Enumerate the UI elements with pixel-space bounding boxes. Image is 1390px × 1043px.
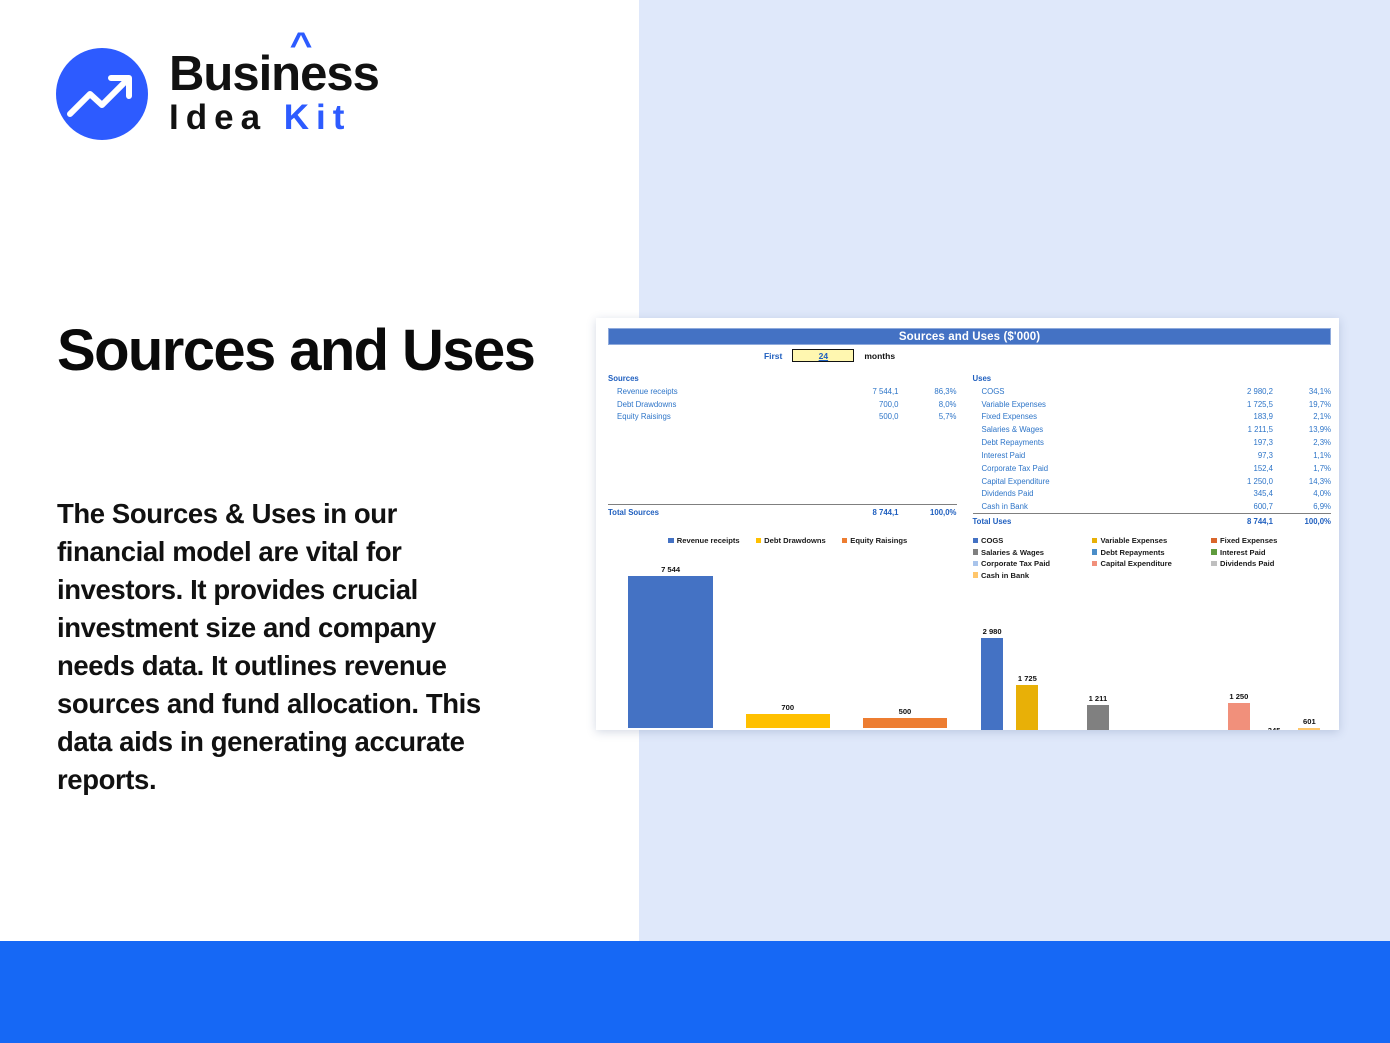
row-label: Interest Paid <box>973 449 1200 462</box>
row-pct: 19,7% <box>1273 398 1331 411</box>
bar[interactable] <box>1016 685 1038 730</box>
bar[interactable] <box>1228 703 1250 730</box>
table-row: Corporate Tax Paid 152,4 1,7% <box>973 462 1332 475</box>
legend-item: Corporate Tax Paid <box>973 559 1092 568</box>
legend-item: COGS <box>973 536 1092 545</box>
bar[interactable] <box>1087 705 1109 730</box>
legend-label: Fixed Expenses <box>1220 536 1277 545</box>
sources-total-row: Total Sources 8 744,1 100,0% <box>608 504 957 518</box>
bar-slot: 700 <box>729 550 846 728</box>
row-value: 500,0 <box>825 411 899 424</box>
table-row: Fixed Expenses 183,9 2,1% <box>973 411 1332 424</box>
row-value: 7 544,1 <box>825 385 899 398</box>
row-pct: 86,3% <box>899 385 957 398</box>
row-pct: 6,9% <box>1273 500 1331 513</box>
legend-swatch-icon <box>973 538 979 544</box>
uses-chart: COGSVariable ExpensesFixed ExpensesSalar… <box>970 536 1332 730</box>
uses-heading: Uses <box>973 372 1200 385</box>
row-pct: 5,7% <box>899 411 957 424</box>
uses-total-row: Total Uses 8 744,1 100,0% <box>973 514 1332 528</box>
row-label: Salaries & Wages <box>973 423 1200 436</box>
sheet-title-bar: Sources and Uses ($'000) <box>608 328 1331 345</box>
row-value: 2 980,2 <box>1199 385 1273 398</box>
row-label: Variable Expenses <box>973 398 1200 411</box>
legend-swatch-icon <box>1211 538 1217 544</box>
legend-label: Salaries & Wages <box>981 548 1044 557</box>
row-label: Cash in Bank <box>973 500 1200 513</box>
table-row: Debt Drawdowns 700,0 8,0% <box>608 398 957 411</box>
row-value: 197,3 <box>1199 436 1273 449</box>
tables-container: Sources Revenue receipts 7 544,1 86,3% D… <box>608 372 1331 528</box>
table-spacer <box>608 423 957 504</box>
legend-item: Dividends Paid <box>1211 559 1330 568</box>
sources-table: Sources Revenue receipts 7 544,1 86,3% D… <box>608 372 970 528</box>
bar-slot: 1 211 <box>1080 587 1115 730</box>
legend-swatch-icon <box>756 538 762 544</box>
brand-logo: Business ^ Idea Kit <box>56 48 379 140</box>
legend-swatch-icon <box>973 549 979 555</box>
legend-item: Fixed Expenses <box>1211 536 1330 545</box>
legend-swatch-icon <box>1092 538 1098 544</box>
legend-item: Revenue receipts <box>668 536 739 545</box>
row-label: Debt Repayments <box>973 436 1200 449</box>
page-title: Sources and Uses <box>57 317 577 385</box>
row-pct: 8,0% <box>899 398 957 411</box>
legend-item: Salaries & Wages <box>973 548 1092 557</box>
legend-item: Interest Paid <box>1211 548 1330 557</box>
uses-plot-area: 2 9801 7251841 211197971521 250345601 <box>973 587 1332 730</box>
legend-label: Interest Paid <box>1220 548 1266 557</box>
total-pct: 100,0% <box>899 504 957 518</box>
bar-slot: 152 <box>1186 587 1221 730</box>
row-value: 183,9 <box>1199 411 1273 424</box>
total-label: Total Sources <box>608 504 825 518</box>
row-pct: 4,0% <box>1273 488 1331 501</box>
bar-value-label: 2 980 <box>983 627 1002 636</box>
row-pct: 14,3% <box>1273 475 1331 488</box>
row-label: Dividends Paid <box>973 488 1200 501</box>
total-value: 8 744,1 <box>825 504 899 518</box>
row-label: Revenue receipts <box>608 385 825 398</box>
left-background-panel <box>0 0 639 941</box>
legend-item: Capital Expenditure <box>1092 559 1211 568</box>
row-value: 152,4 <box>1199 462 1273 475</box>
legend-label: Debt Drawdowns <box>764 536 826 545</box>
legend-swatch-icon <box>668 538 674 544</box>
row-label: Corporate Tax Paid <box>973 462 1200 475</box>
table-row: Debt Repayments 197,3 2,3% <box>973 436 1332 449</box>
row-pct: 1,7% <box>1273 462 1331 475</box>
legend-label: Revenue receipts <box>677 536 740 545</box>
bar-value-label: 345 <box>1268 726 1281 730</box>
bar-value-label: 1 211 <box>1089 694 1108 703</box>
sources-plot-area: 7 544700500 <box>608 550 970 728</box>
table-row: Salaries & Wages 1 211,5 13,9% <box>973 423 1332 436</box>
row-value: 1 211,5 <box>1199 423 1273 436</box>
row-value: 1 250,0 <box>1199 475 1273 488</box>
legend-label: Equity Raisings <box>850 536 907 545</box>
bar[interactable] <box>981 638 1003 730</box>
row-label: COGS <box>973 385 1200 398</box>
legend-label: Cash in Bank <box>981 571 1029 580</box>
table-row: COGS 2 980,2 34,1% <box>973 385 1332 398</box>
row-label: Fixed Expenses <box>973 411 1200 424</box>
legend-label: Variable Expenses <box>1100 536 1167 545</box>
bar-slot: 500 <box>846 550 963 728</box>
row-value: 600,7 <box>1199 500 1273 513</box>
bar-value-label: 700 <box>781 703 794 712</box>
row-label: Debt Drawdowns <box>608 398 825 411</box>
legend-swatch-icon <box>973 561 979 567</box>
row-pct: 2,3% <box>1273 436 1331 449</box>
legend-swatch-icon <box>1092 561 1098 567</box>
legend-swatch-icon <box>842 538 848 544</box>
table-row: Uses <box>973 372 1332 385</box>
period-prefix-label: First <box>764 351 782 361</box>
brand-name-secondary: Idea Kit <box>169 100 379 137</box>
table-row: Variable Expenses 1 725,5 19,7% <box>973 398 1332 411</box>
bar-value-label: 1 250 <box>1229 692 1248 701</box>
bar-value-label: 1 725 <box>1018 674 1037 683</box>
total-value: 8 744,1 <box>1199 514 1273 528</box>
brand-hat-accent-icon: ^ <box>290 29 312 61</box>
brand-name-text: Business <box>169 47 379 101</box>
legend-swatch-icon <box>1211 561 1217 567</box>
legend-swatch-icon <box>973 572 979 578</box>
bar-slot: 1 250 <box>1221 587 1256 730</box>
sources-chart-legend: Revenue receiptsDebt DrawdownsEquity Rai… <box>608 536 970 545</box>
bar-slot: 2 980 <box>975 587 1010 730</box>
months-input[interactable]: 24 <box>792 349 854 362</box>
bar-slot: 97 <box>1151 587 1186 730</box>
bar-slot: 197 <box>1116 587 1151 730</box>
bar[interactable] <box>863 718 947 728</box>
legend-item: Debt Repayments <box>1092 548 1211 557</box>
row-value: 97,3 <box>1199 449 1273 462</box>
legend-label: Capital Expenditure <box>1100 559 1171 568</box>
spreadsheet-content: Sources and Uses ($'000) First 24 months… <box>608 328 1331 730</box>
bar-slot: 1 725 <box>1010 587 1045 730</box>
legend-label: Corporate Tax Paid <box>981 559 1050 568</box>
row-label: Capital Expenditure <box>973 475 1200 488</box>
row-pct: 34,1% <box>1273 385 1331 398</box>
bar[interactable] <box>628 576 712 728</box>
bar-slot: 601 <box>1292 587 1327 730</box>
bar[interactable] <box>746 714 830 728</box>
brand-name-primary: Business ^ <box>169 51 379 98</box>
legend-label: COGS <box>981 536 1003 545</box>
legend-swatch-icon <box>1211 549 1217 555</box>
period-suffix-label: months <box>864 351 895 361</box>
legend-item: Variable Expenses <box>1092 536 1211 545</box>
uses-chart-legend: COGSVariable ExpensesFixed ExpensesSalar… <box>973 536 1332 582</box>
total-pct: 100,0% <box>1273 514 1331 528</box>
row-value: 700,0 <box>825 398 899 411</box>
total-label: Total Uses <box>973 514 1200 528</box>
row-pct: 1,1% <box>1273 449 1331 462</box>
bar-value-label: 7 544 <box>661 565 680 574</box>
page-description: The Sources & Uses in our financial mode… <box>57 495 502 799</box>
bar-slot: 184 <box>1045 587 1080 730</box>
bar-value-label: 500 <box>899 707 912 716</box>
bar-slot: 345 <box>1257 587 1292 730</box>
legend-label: Debt Repayments <box>1100 548 1164 557</box>
uses-table: Uses COGS 2 980,2 34,1% Variable Expense… <box>970 372 1332 528</box>
bar[interactable] <box>1298 728 1320 730</box>
table-row: Interest Paid 97,3 1,1% <box>973 449 1332 462</box>
table-row: Sources <box>608 372 957 385</box>
row-value: 1 725,5 <box>1199 398 1273 411</box>
bottom-accent-bar <box>0 941 1390 1043</box>
charts-container: Revenue receiptsDebt DrawdownsEquity Rai… <box>608 536 1331 730</box>
period-selector-row: First 24 months <box>608 349 1331 362</box>
bar-slot: 7 544 <box>612 550 729 728</box>
sources-chart: Revenue receiptsDebt DrawdownsEquity Rai… <box>608 536 970 730</box>
brand-idea-text: Idea <box>169 98 284 137</box>
legend-swatch-icon <box>1092 549 1098 555</box>
table-row: Equity Raisings 500,0 5,7% <box>608 411 957 424</box>
sources-heading: Sources <box>608 372 825 385</box>
spreadsheet-card: Sources and Uses ($'000) First 24 months… <box>596 318 1339 730</box>
trending-up-arrow-icon <box>56 48 148 140</box>
row-label: Equity Raisings <box>608 411 825 424</box>
brand-kit-text: Kit <box>284 98 352 137</box>
bar-value-label: 601 <box>1303 717 1316 726</box>
table-row: Cash in Bank 600,7 6,9% <box>973 500 1332 513</box>
legend-item: Equity Raisings <box>842 536 907 545</box>
legend-item: Debt Drawdowns <box>756 536 826 545</box>
table-row: Revenue receipts 7 544,1 86,3% <box>608 385 957 398</box>
table-row: Capital Expenditure 1 250,0 14,3% <box>973 475 1332 488</box>
table-row: Dividends Paid 345,4 4,0% <box>973 488 1332 501</box>
row-value: 345,4 <box>1199 488 1273 501</box>
row-pct: 13,9% <box>1273 423 1331 436</box>
legend-item: Cash in Bank <box>973 571 1092 580</box>
row-pct: 2,1% <box>1273 411 1331 424</box>
legend-label: Dividends Paid <box>1220 559 1274 568</box>
